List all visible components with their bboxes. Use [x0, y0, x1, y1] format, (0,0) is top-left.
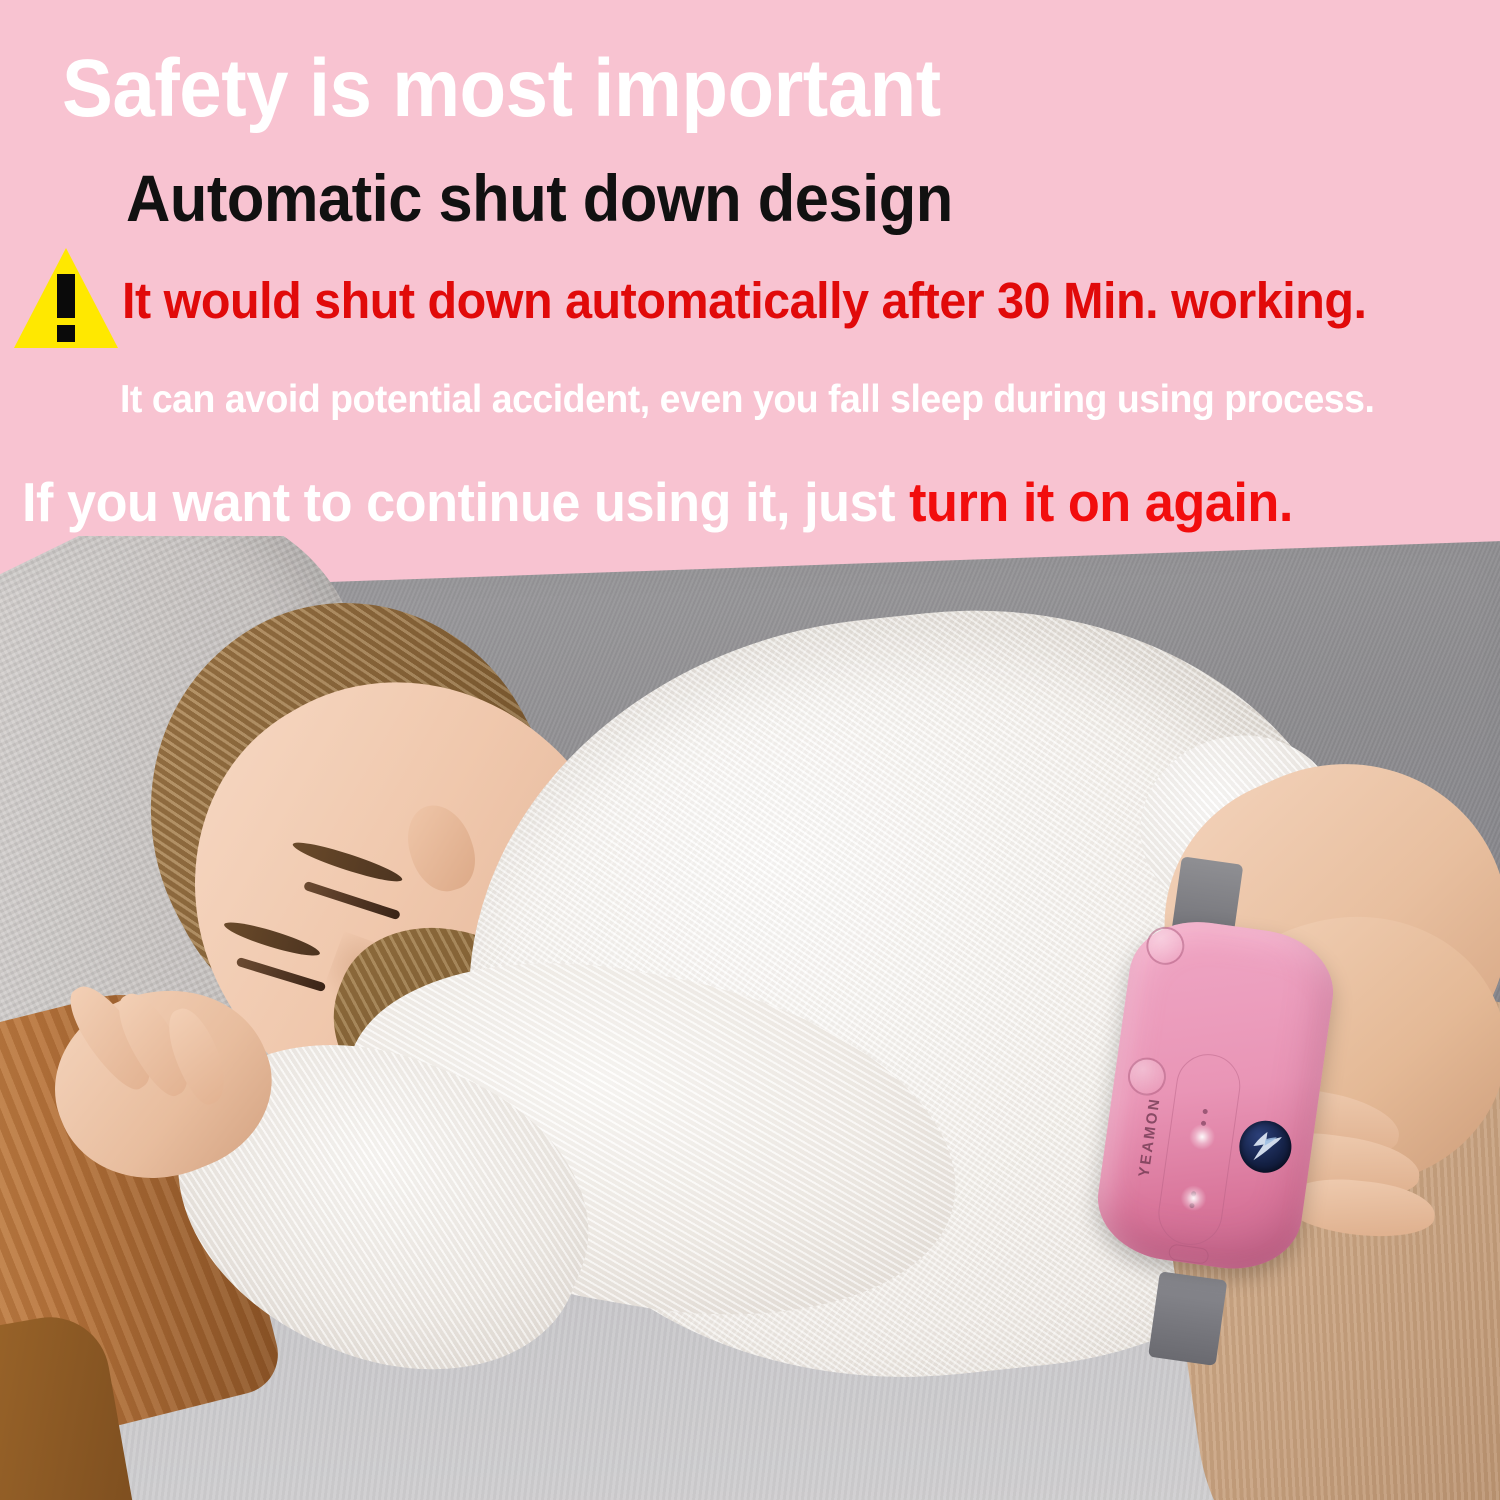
gray-strap-bottom-icon — [1148, 1271, 1227, 1366]
continue-highlight: turn it on again. — [909, 471, 1293, 533]
continue-prefix: If you want to continue using it, just — [22, 471, 909, 533]
feature-subtitle: Automatic shut down design — [126, 163, 953, 233]
accident-avoidance-text: It can avoid potential accident, even yo… — [120, 378, 1374, 422]
power-button[interactable] — [1144, 924, 1187, 967]
continue-using-text: If you want to continue using it, just t… — [22, 472, 1293, 532]
page-title: Safety is most important — [62, 47, 941, 131]
bird-badge-icon — [1236, 1117, 1295, 1176]
warning-triangle-exclamation-icon — [12, 246, 120, 350]
auto-shutdown-warning-text: It would shut down automatically after 3… — [122, 273, 1366, 329]
product-marketing-image: Safety is most important Automatic shut … — [0, 0, 1500, 1500]
usb-charging-port — [1168, 1243, 1210, 1264]
device-brand-label: YEAMON — [1134, 1081, 1166, 1192]
lifestyle-photo: YEAMON Some customers complained this is… — [0, 536, 1500, 1500]
